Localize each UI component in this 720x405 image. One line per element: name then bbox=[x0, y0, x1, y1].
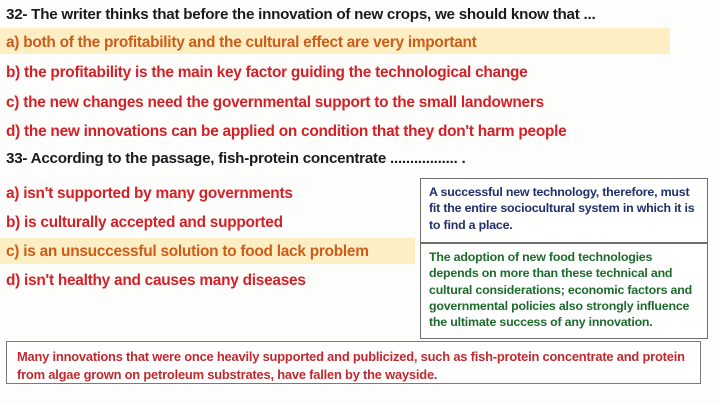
question-32-option-a[interactable]: a) both of the profitability and the cul… bbox=[6, 35, 477, 50]
note-box-green-text: The adoption of new food technologies de… bbox=[429, 249, 700, 330]
question-33-option-a[interactable]: a) isn't supported by many governments bbox=[6, 186, 293, 201]
note-box-navy: A successful new technology, therefore, … bbox=[420, 178, 708, 243]
note-box-green: The adoption of new food technologies de… bbox=[420, 243, 708, 339]
question-32-option-d[interactable]: d) the new innovations can be applied on… bbox=[6, 124, 566, 139]
question-33-option-b[interactable]: b) is culturally accepted and supported bbox=[6, 215, 283, 230]
question-33-option-d[interactable]: d) isn't healthy and causes many disease… bbox=[6, 273, 306, 288]
note-box-navy-text: A successful new technology, therefore, … bbox=[429, 184, 700, 233]
question-33-stem: 33- According to the passage, fish-prote… bbox=[6, 151, 465, 166]
note-box-bottom-red: Many innovations that were once heavily … bbox=[6, 341, 701, 384]
question-32-option-c[interactable]: c) the new changes need the governmental… bbox=[6, 95, 544, 110]
question-33-option-c[interactable]: c) is an unsuccessful solution to food l… bbox=[6, 244, 369, 259]
question-32-stem: 32- The writer thinks that before the in… bbox=[6, 7, 595, 22]
exam-sheet-page: 32- The writer thinks that before the in… bbox=[0, 0, 720, 405]
question-32-option-b[interactable]: b) the profitability is the main key fac… bbox=[6, 65, 527, 80]
note-box-bottom-red-text: Many innovations that were once heavily … bbox=[17, 348, 691, 384]
